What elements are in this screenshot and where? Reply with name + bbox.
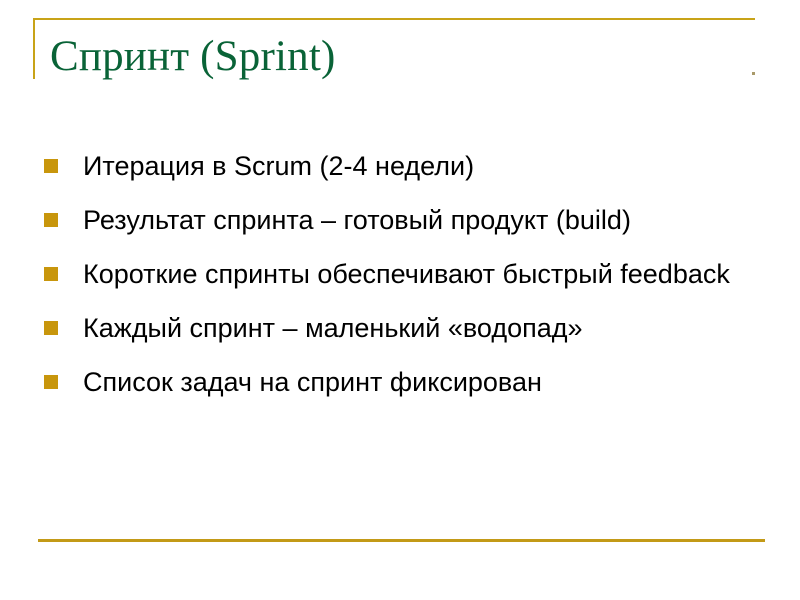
top-divider-rule	[33, 18, 755, 20]
slide-canvas: Спринт (Sprint) Итерация в Scrum (2-4 не…	[0, 0, 800, 600]
list-item-label: Список задач на спринт фиксирован	[83, 362, 764, 402]
square-bullet-icon	[44, 375, 58, 389]
list-item-label: Итерация в Scrum (2-4 недели)	[83, 146, 764, 186]
list-item-label: Каждый спринт – маленький «водопад»	[83, 308, 764, 348]
slide-title: Спринт (Sprint)	[50, 31, 336, 83]
list-item: Список задач на спринт фиксирован	[40, 362, 764, 402]
bottom-divider-rule	[38, 539, 765, 542]
list-item-label: Короткие спринты обеспечивают быстрый fe…	[83, 254, 764, 294]
corner-dot-marker	[752, 72, 755, 75]
list-item-label: Результат спринта – готовый продукт (bui…	[83, 200, 703, 240]
square-bullet-icon	[44, 159, 58, 173]
bullet-list: Итерация в Scrum (2-4 недели) Результат …	[40, 146, 764, 402]
list-item: Каждый спринт – маленький «водопад»	[40, 308, 764, 348]
square-bullet-icon	[44, 321, 58, 335]
square-bullet-icon	[44, 213, 58, 227]
list-item: Короткие спринты обеспечивают быстрый fe…	[40, 254, 764, 294]
list-item: Итерация в Scrum (2-4 недели)	[40, 146, 764, 186]
list-item: Результат спринта – готовый продукт (bui…	[40, 200, 764, 240]
left-accent-rule	[33, 18, 35, 79]
square-bullet-icon	[44, 267, 58, 281]
